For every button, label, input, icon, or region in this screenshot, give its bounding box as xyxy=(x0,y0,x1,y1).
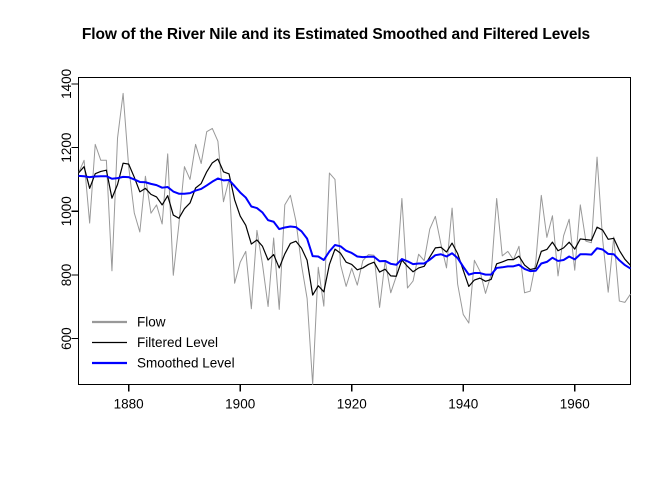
x-axis: 18801900192019401960 xyxy=(114,385,590,412)
x-tick-label: 1900 xyxy=(225,397,255,412)
y-tick-label: 1000 xyxy=(59,196,74,226)
series-line-filtered-level xyxy=(79,159,631,295)
chart-figure: Flow of the River Nile and its Estimated… xyxy=(0,0,672,480)
x-tick-label: 1880 xyxy=(114,397,144,412)
plot-area: 600800100012001400 18801900192019401960 … xyxy=(0,0,672,480)
y-tick-label: 800 xyxy=(59,264,74,287)
x-tick-label: 1920 xyxy=(337,397,367,412)
x-tick-label: 1960 xyxy=(560,397,590,412)
y-tick-label: 600 xyxy=(59,327,74,350)
legend-label-smoothed-level: Smoothed Level xyxy=(137,356,235,371)
y-tick-label: 1200 xyxy=(59,133,74,163)
y-axis: 600800100012001400 xyxy=(59,69,79,350)
legend-label-flow: Flow xyxy=(137,315,166,330)
legend-label-filtered-level: Filtered Level xyxy=(137,335,218,350)
x-tick-label: 1940 xyxy=(448,397,478,412)
series-line-smoothed-level xyxy=(79,176,631,275)
chart-legend: FlowFiltered LevelSmoothed Level xyxy=(92,315,235,371)
y-tick-label: 1400 xyxy=(59,69,74,99)
